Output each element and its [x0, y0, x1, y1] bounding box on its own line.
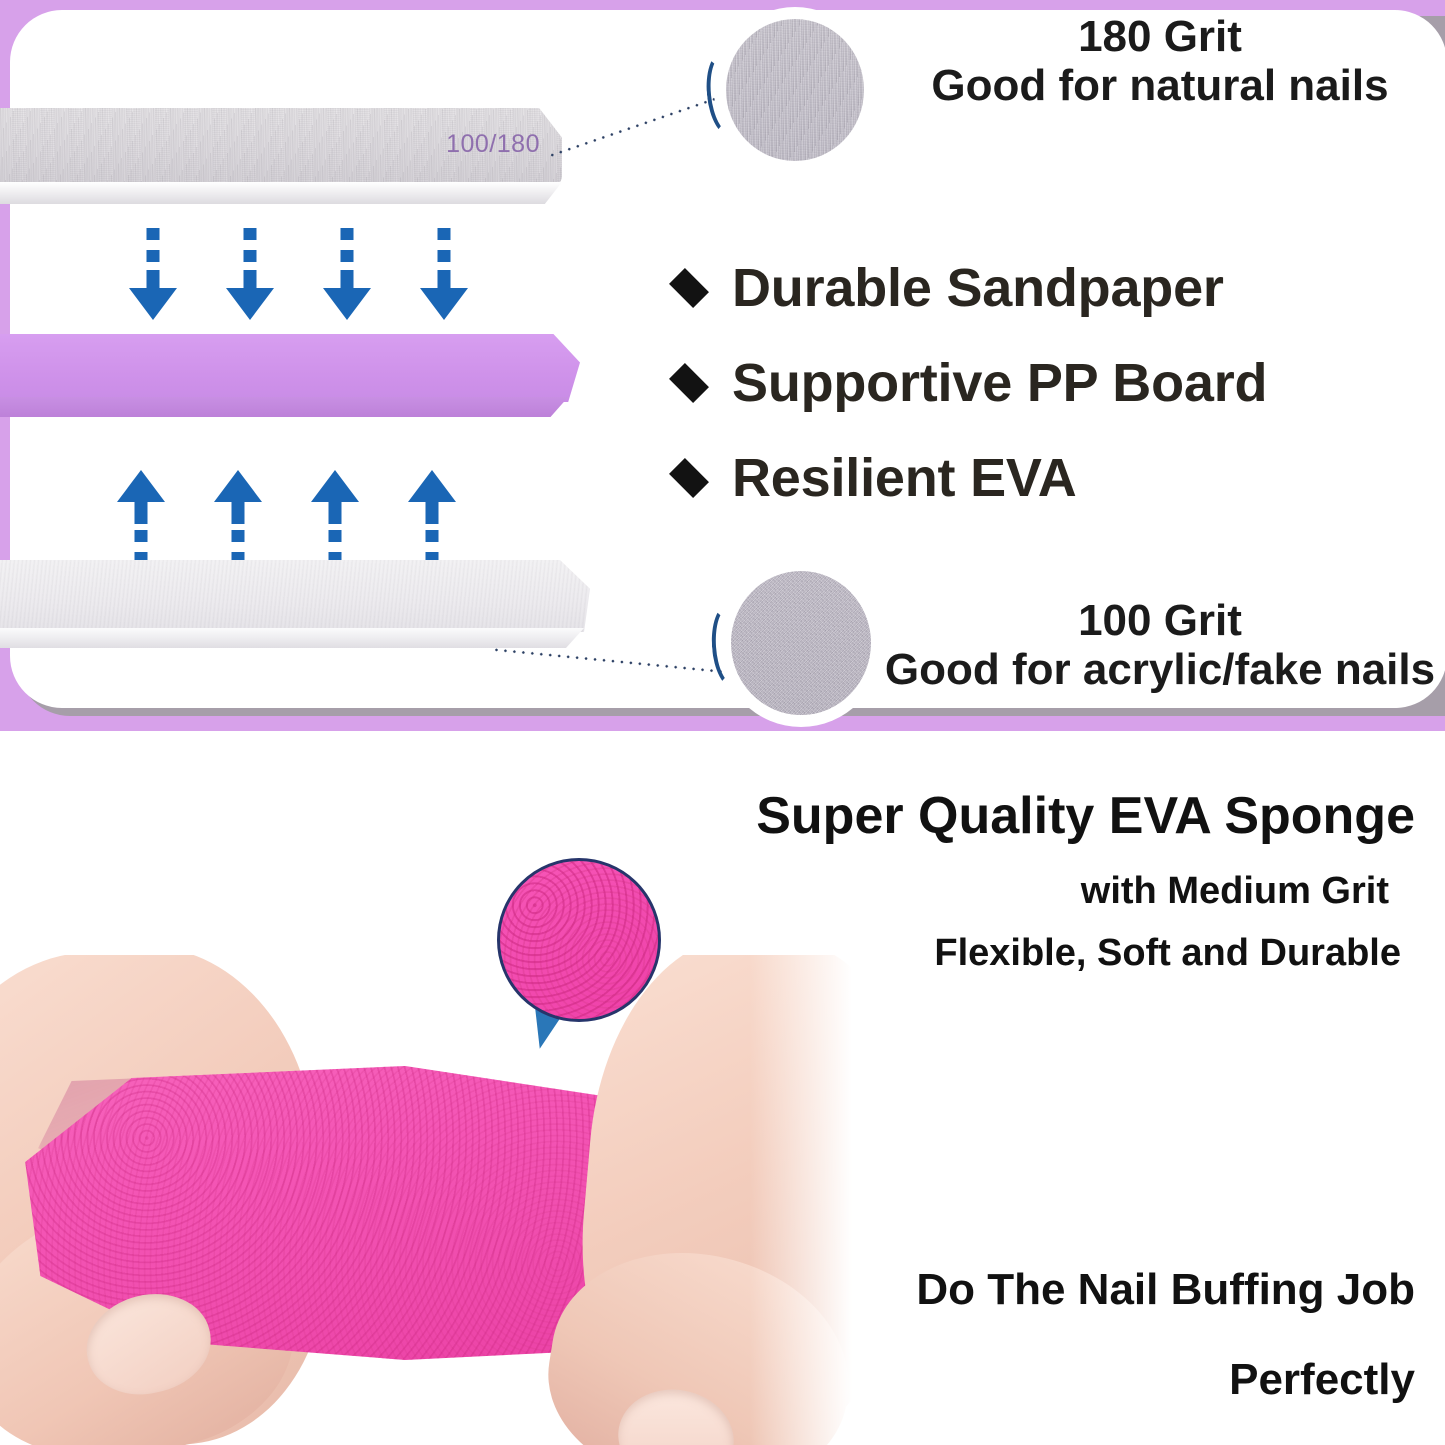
- callout-180-title: 180 Grit: [880, 12, 1440, 61]
- feature-item: Supportive PP Board: [672, 335, 1267, 430]
- arrows-down-group: [104, 228, 494, 320]
- arrow-up-icon: [383, 470, 480, 562]
- sponge-heading-line2: with Medium Grit: [585, 871, 1415, 913]
- photo-edge-fade: [750, 955, 870, 1445]
- arrow-down-icon: [395, 228, 492, 320]
- top-infographic-panel: 100/180: [0, 0, 1445, 731]
- sponge-heading-block: Super Quality EVA Sponge with Medium Gri…: [585, 788, 1415, 975]
- eva-layer: [0, 560, 590, 662]
- feature-item: Durable Sandpaper: [672, 240, 1267, 335]
- callout-100-title: 100 Grit: [880, 596, 1440, 645]
- arrow-up-icon: [189, 470, 286, 562]
- sponge-heading-line1: Super Quality EVA Sponge: [585, 788, 1415, 845]
- callout-100-grit: 100 Grit Good for acrylic/fake nails: [880, 596, 1440, 695]
- pp-board-layer: [0, 334, 580, 424]
- grit-label: 100/180: [446, 130, 540, 159]
- hands-stretching-sponge-photo: [0, 955, 870, 1445]
- callout-100-desc: Good for acrylic/fake nails: [880, 645, 1440, 694]
- callout-180-desc: Good for natural nails: [880, 61, 1440, 110]
- arrow-up-icon: [286, 470, 383, 562]
- diamond-bullet-icon: [669, 458, 709, 498]
- sponge-texture-zoom-circle: [497, 858, 661, 1022]
- eva-face: [0, 560, 590, 632]
- grit-texture-circle-100: [731, 571, 871, 715]
- nail-file-sandpaper-layer: 100/180: [0, 108, 562, 210]
- sandpaper-edge: [0, 182, 562, 204]
- eva-edge: [0, 628, 590, 648]
- feature-list: Durable Sandpaper Supportive PP Board Re…: [672, 240, 1267, 525]
- grit-texture-circle-180: [726, 19, 864, 161]
- arrow-down-icon: [298, 228, 395, 320]
- pp-board-edge: [0, 397, 580, 417]
- feature-label: Durable Sandpaper: [732, 257, 1224, 319]
- pp-board-face: [0, 334, 580, 402]
- diamond-bullet-icon: [669, 268, 709, 308]
- arrow-down-icon: [201, 228, 298, 320]
- callout-180-grit: 180 Grit Good for natural nails: [880, 12, 1440, 111]
- feature-item: Resilient EVA: [672, 430, 1267, 525]
- arrow-up-icon: [92, 470, 189, 562]
- arrow-down-icon: [104, 228, 201, 320]
- feature-label: Resilient EVA: [732, 447, 1077, 509]
- arrows-up-group: [92, 470, 482, 562]
- diamond-bullet-icon: [669, 363, 709, 403]
- feature-label: Supportive PP Board: [732, 352, 1267, 414]
